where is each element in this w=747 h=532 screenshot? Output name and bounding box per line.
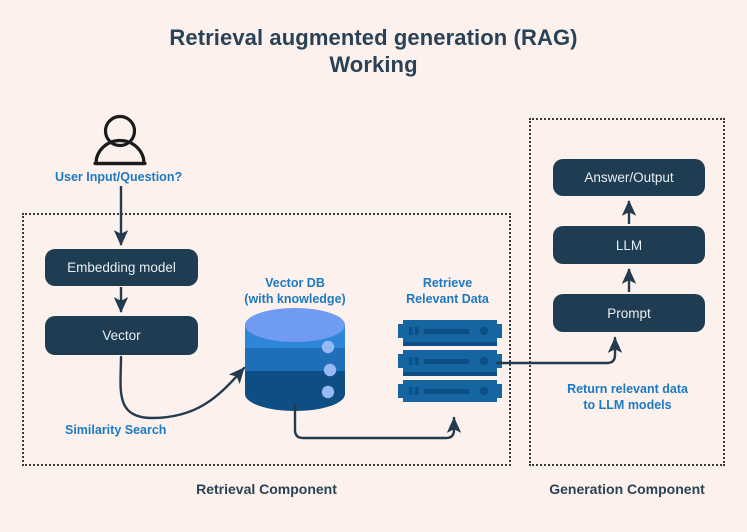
node-embedding-model[interactable]: Embedding model [45,249,198,286]
generation-component-caption: Generation Component [509,481,745,497]
node-prompt[interactable]: Prompt [553,294,705,332]
label-retrieve-line-1: Retrieve [385,275,510,291]
title-line-2: Working [0,51,747,78]
label-vector-db-line-1: Vector DB [225,275,365,291]
retrieval-component-caption: Retrieval Component [22,481,511,497]
node-vector[interactable]: Vector [45,316,198,355]
node-answer-output[interactable]: Answer/Output [553,159,705,196]
node-llm[interactable]: LLM [553,226,705,264]
diagram-canvas: Retrieval augmented generation (RAG) Wor… [0,0,747,532]
user-person-icon [95,117,145,164]
page-title: Retrieval augmented generation (RAG) Wor… [0,24,747,78]
label-vector-db-line-2: (with knowledge) [225,291,365,307]
label-vector-db: Vector DB (with knowledge) [225,275,365,307]
title-line-1: Retrieval augmented generation (RAG) [0,24,747,51]
label-retrieve-relevant-data: Retrieve Relevant Data [385,275,510,307]
label-return-line-1: Return relevant data [530,381,725,397]
label-return-relevant-data: Return relevant data to LLM models [530,381,725,413]
label-retrieve-line-2: Relevant Data [385,291,510,307]
label-user-input: User Input/Question? [30,169,220,185]
label-return-line-2: to LLM models [530,397,725,413]
label-similarity-search: Similarity Search [40,422,220,438]
